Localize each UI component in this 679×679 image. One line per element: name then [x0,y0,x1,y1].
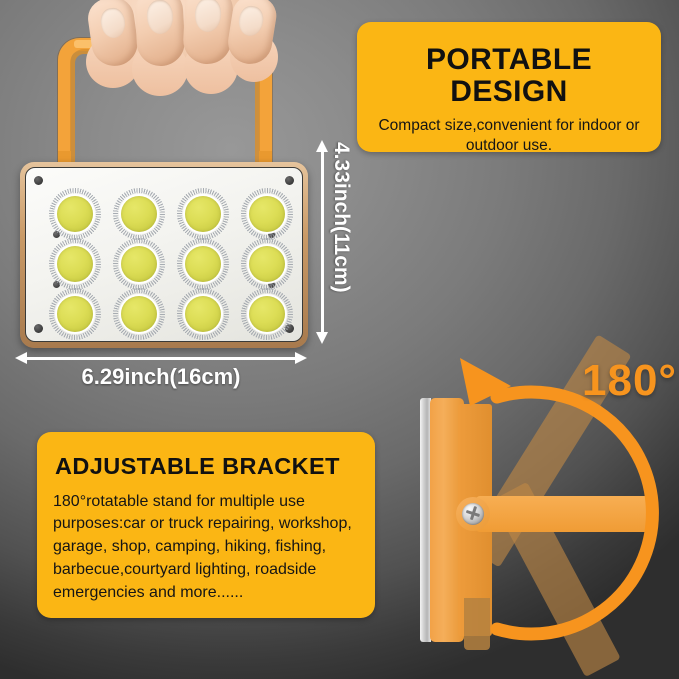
led-r1c2 [113,188,165,240]
led-r2c4 [241,238,293,290]
led-r1c1 [49,188,101,240]
callout-adjustable-bracket: ADJUSTABLE BRACKET 180°rotatable stand f… [37,432,375,618]
hand-gripping-handle [84,2,276,110]
led-r1c4 [241,188,293,240]
infographic-canvas: 6.29inch(16cm) 4.33inch(11cm) PORTABLE D… [0,0,679,679]
arrow-head-down-icon [316,332,328,344]
rotation-degrees-label: 180° [582,356,677,406]
led-r3c3 [177,288,229,340]
width-dimension-label: 6.29inch(16cm) [15,364,307,390]
led-panel-housing [20,162,308,348]
callout-body: 180°rotatable stand for multiple use pur… [53,491,359,605]
dimension-line [25,357,297,360]
height-dimension-arrow [316,140,328,344]
led-r3c2 [113,288,165,340]
arrow-head-right-icon [295,352,307,364]
corner-screw-bottom-left [34,324,43,333]
bracket-rotation-diagram: 180° [398,340,679,679]
width-dimension-arrow [15,352,307,364]
led-r3c1 [49,288,101,340]
corner-screw-top-left [34,176,43,185]
callout-portable-design: PORTABLE DESIGN Compact size,convenient … [357,22,661,152]
led-r1c3 [177,188,229,240]
callout-title: ADJUSTABLE BRACKET [55,454,359,479]
product-illustration [8,18,320,348]
callout-title: PORTABLE DESIGN [369,44,649,107]
led-r2c2 [113,238,165,290]
led-panel-face [25,167,303,342]
led-r3c4 [241,288,293,340]
callout-body: Compact size,convenient for indoor or ou… [369,116,649,156]
corner-screw-top-right [285,176,294,185]
led-r2c1 [49,238,101,290]
dimension-line [321,150,324,334]
led-r2c3 [177,238,229,290]
height-dimension-label: 4.33inch(11cm) [329,142,353,342]
